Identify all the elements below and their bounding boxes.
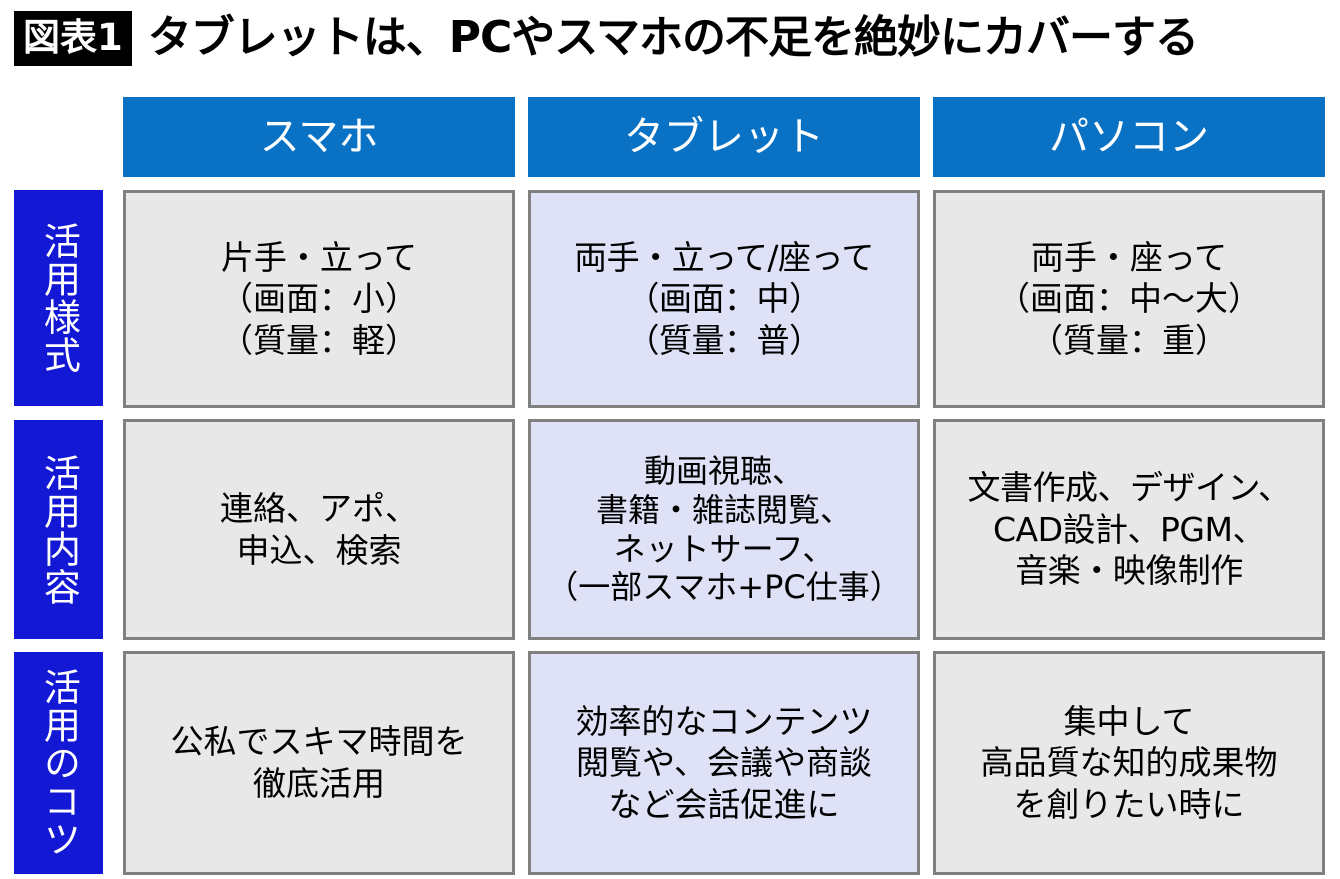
column-header-smartphone: スマホ <box>123 97 515 177</box>
column-header-pc: パソコン <box>933 97 1325 177</box>
table-cell-tips-tablet: 効率的なコンテンツ 閲覧や、会議や商談 など会話促進に <box>528 651 920 875</box>
table-cell-style-smartphone: 片手・立って （画面：小） （質量：軽） <box>123 190 515 408</box>
table-cell-tips-smartphone: 公私でスキマ時間を 徹底活用 <box>123 651 515 875</box>
table-cell-content-tablet: 動画視聴、 書籍・雑誌閲覧、 ネットサーフ、 （一部スマホ+PC仕事） <box>528 419 920 640</box>
row-label-usage-tips: 活用のコツ <box>14 652 103 874</box>
table-cell-tips-pc: 集中して 高品質な知的成果物 を創りたい時に <box>933 651 1325 875</box>
column-header-tablet: タブレット <box>528 97 920 177</box>
row-label-usage-style: 活用様式 <box>14 190 103 406</box>
comparison-table: スマホ タブレット パソコン 活用様式 活用内容 活用のコツ 片手・立って （画… <box>0 0 1340 879</box>
table-cell-style-tablet: 両手・立って/座って （画面：中） （質量：普） <box>528 190 920 408</box>
row-label-usage-content: 活用内容 <box>14 420 103 639</box>
table-cell-style-pc: 両手・座って （画面：中〜大） （質量：重） <box>933 190 1325 408</box>
table-cell-content-smartphone: 連絡、アポ、 申込、検索 <box>123 419 515 640</box>
figure-page: 図表1 タブレットは、PCやスマホの不足を絶妙にカバーする スマホ タブレット … <box>0 0 1340 879</box>
table-cell-content-pc: 文書作成、デザイン、 CAD設計、PGM、 音楽・映像制作 <box>933 419 1325 640</box>
